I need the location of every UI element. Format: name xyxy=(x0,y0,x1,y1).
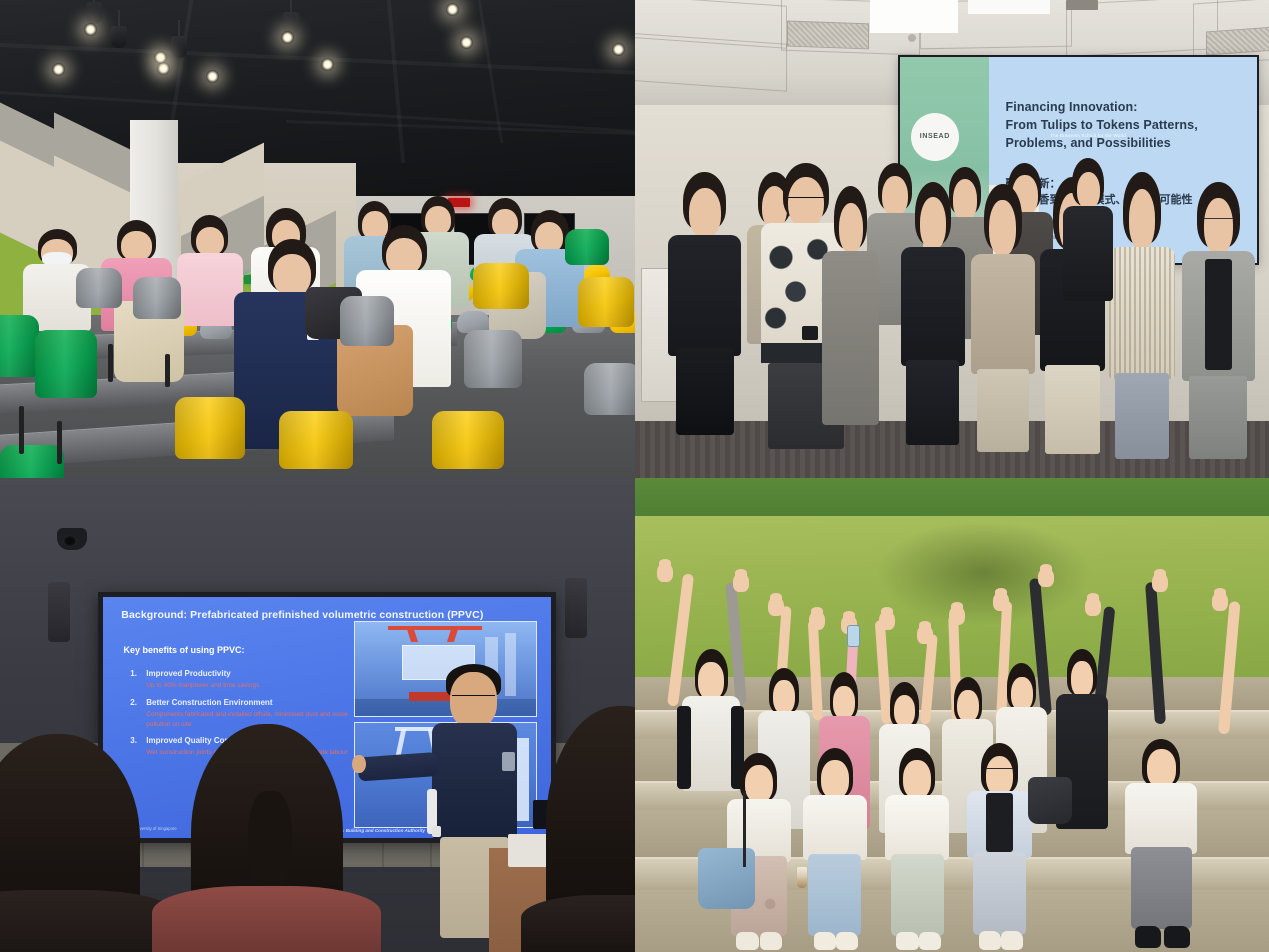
raised-hand xyxy=(917,625,933,644)
panel-ppvc-lecture: Background: Prefabricated prefinished vo… xyxy=(0,478,635,952)
benefit-detail: Up to 40% manpower and time savings xyxy=(146,681,360,691)
ceiling-vent xyxy=(787,20,869,49)
benefit-number: 2. xyxy=(130,698,140,707)
group-member xyxy=(819,186,882,425)
audience-shoulders xyxy=(152,886,381,952)
seated-student-front xyxy=(800,748,870,952)
raised-hand xyxy=(879,611,895,630)
ponytail xyxy=(248,791,292,895)
ceiling-light xyxy=(612,43,625,56)
ppvc-section-heading: Key benefits of using PPVC: xyxy=(124,645,245,655)
raised-hand xyxy=(1085,597,1101,616)
sleeve-badge xyxy=(502,752,515,771)
seat xyxy=(432,411,504,469)
group-member xyxy=(1107,172,1177,459)
panel-lecture-theatre xyxy=(0,0,635,478)
benefit-number: 3. xyxy=(130,736,140,745)
ppvc-lecture-scene: Background: Prefabricated prefinished vo… xyxy=(0,478,635,952)
glasses-icon xyxy=(452,695,495,703)
wall-speaker xyxy=(565,578,587,638)
ceiling-vent xyxy=(1206,26,1269,55)
presenter-torso xyxy=(432,723,517,840)
panel-classroom-group-photo: INSEAD The Business School for the World… xyxy=(635,0,1269,478)
group-member xyxy=(968,184,1038,452)
raised-hand xyxy=(949,606,965,625)
seat xyxy=(464,330,522,388)
group-member xyxy=(1180,182,1256,459)
seat xyxy=(0,315,39,377)
outdoor-scene xyxy=(635,478,1269,952)
backpack xyxy=(698,848,755,910)
audience-shoulders xyxy=(0,890,178,952)
photo-collage: INSEAD The Business School for the World… xyxy=(0,0,1269,952)
group-member xyxy=(1060,158,1117,301)
seat xyxy=(578,277,634,327)
slide-title-line-1: Financing Innovation: xyxy=(1006,98,1228,116)
seat xyxy=(473,263,529,309)
ceiling-camera xyxy=(57,528,87,550)
seated-student-front xyxy=(1123,739,1199,952)
seat xyxy=(279,411,353,469)
slide-title-line-2: From Tulips to Tokens Patterns, xyxy=(1006,116,1228,134)
raised-hand xyxy=(809,611,825,630)
seated-student-front xyxy=(965,743,1035,952)
ppvc-benefit-item: 1. Improved Productivity xyxy=(130,669,363,678)
seat xyxy=(565,229,609,265)
seated-student-front xyxy=(882,748,952,952)
wall-speaker xyxy=(48,582,70,642)
benefit-label: Better Construction Environment xyxy=(146,698,272,707)
presenter-hand xyxy=(352,755,365,774)
raised-hand xyxy=(657,563,673,582)
ceiling-light xyxy=(460,36,473,49)
lecture-theatre-scene xyxy=(0,0,635,478)
smartphone xyxy=(847,625,860,647)
audience-shoulders xyxy=(521,895,635,952)
insead-logo: INSEAD xyxy=(911,113,959,161)
hill-shadow xyxy=(876,521,1092,625)
classroom-scene: INSEAD The Business School for the World… xyxy=(635,0,1269,478)
raised-hand xyxy=(1152,573,1168,592)
presenter-pointing-arm xyxy=(358,752,439,781)
raised-hand xyxy=(733,573,749,592)
ppvc-benefit-item: 2. Better Construction Environment xyxy=(130,698,363,707)
group-member xyxy=(898,182,968,445)
panel-outdoor-steps-group xyxy=(635,478,1269,952)
group-member xyxy=(667,172,743,435)
seat xyxy=(175,397,245,459)
raised-hand xyxy=(1212,592,1228,611)
seat xyxy=(0,445,64,478)
seat xyxy=(35,330,97,398)
raised-hand xyxy=(768,597,784,616)
drink-cup xyxy=(797,867,807,888)
raised-hand xyxy=(1038,568,1054,587)
benefit-number: 1. xyxy=(130,669,140,678)
benefit-label: Improved Productivity xyxy=(146,669,230,678)
ceiling-light xyxy=(281,31,294,44)
seat xyxy=(584,363,635,415)
slide-title: Financing Innovation: From Tulips to Tok… xyxy=(1006,98,1228,152)
tote-bag xyxy=(1028,777,1072,824)
ppvc-slide-title: Background: Prefabricated prefinished vo… xyxy=(121,609,532,621)
slide-title-line-3: Problems, and Possibilities xyxy=(1006,134,1228,152)
seat xyxy=(76,268,122,308)
wristwatch xyxy=(432,826,441,837)
seat xyxy=(133,277,181,319)
raised-hand xyxy=(993,592,1009,611)
seat xyxy=(340,296,394,346)
insead-logo-text: INSEAD xyxy=(920,133,950,140)
ceiling-light xyxy=(321,58,334,71)
